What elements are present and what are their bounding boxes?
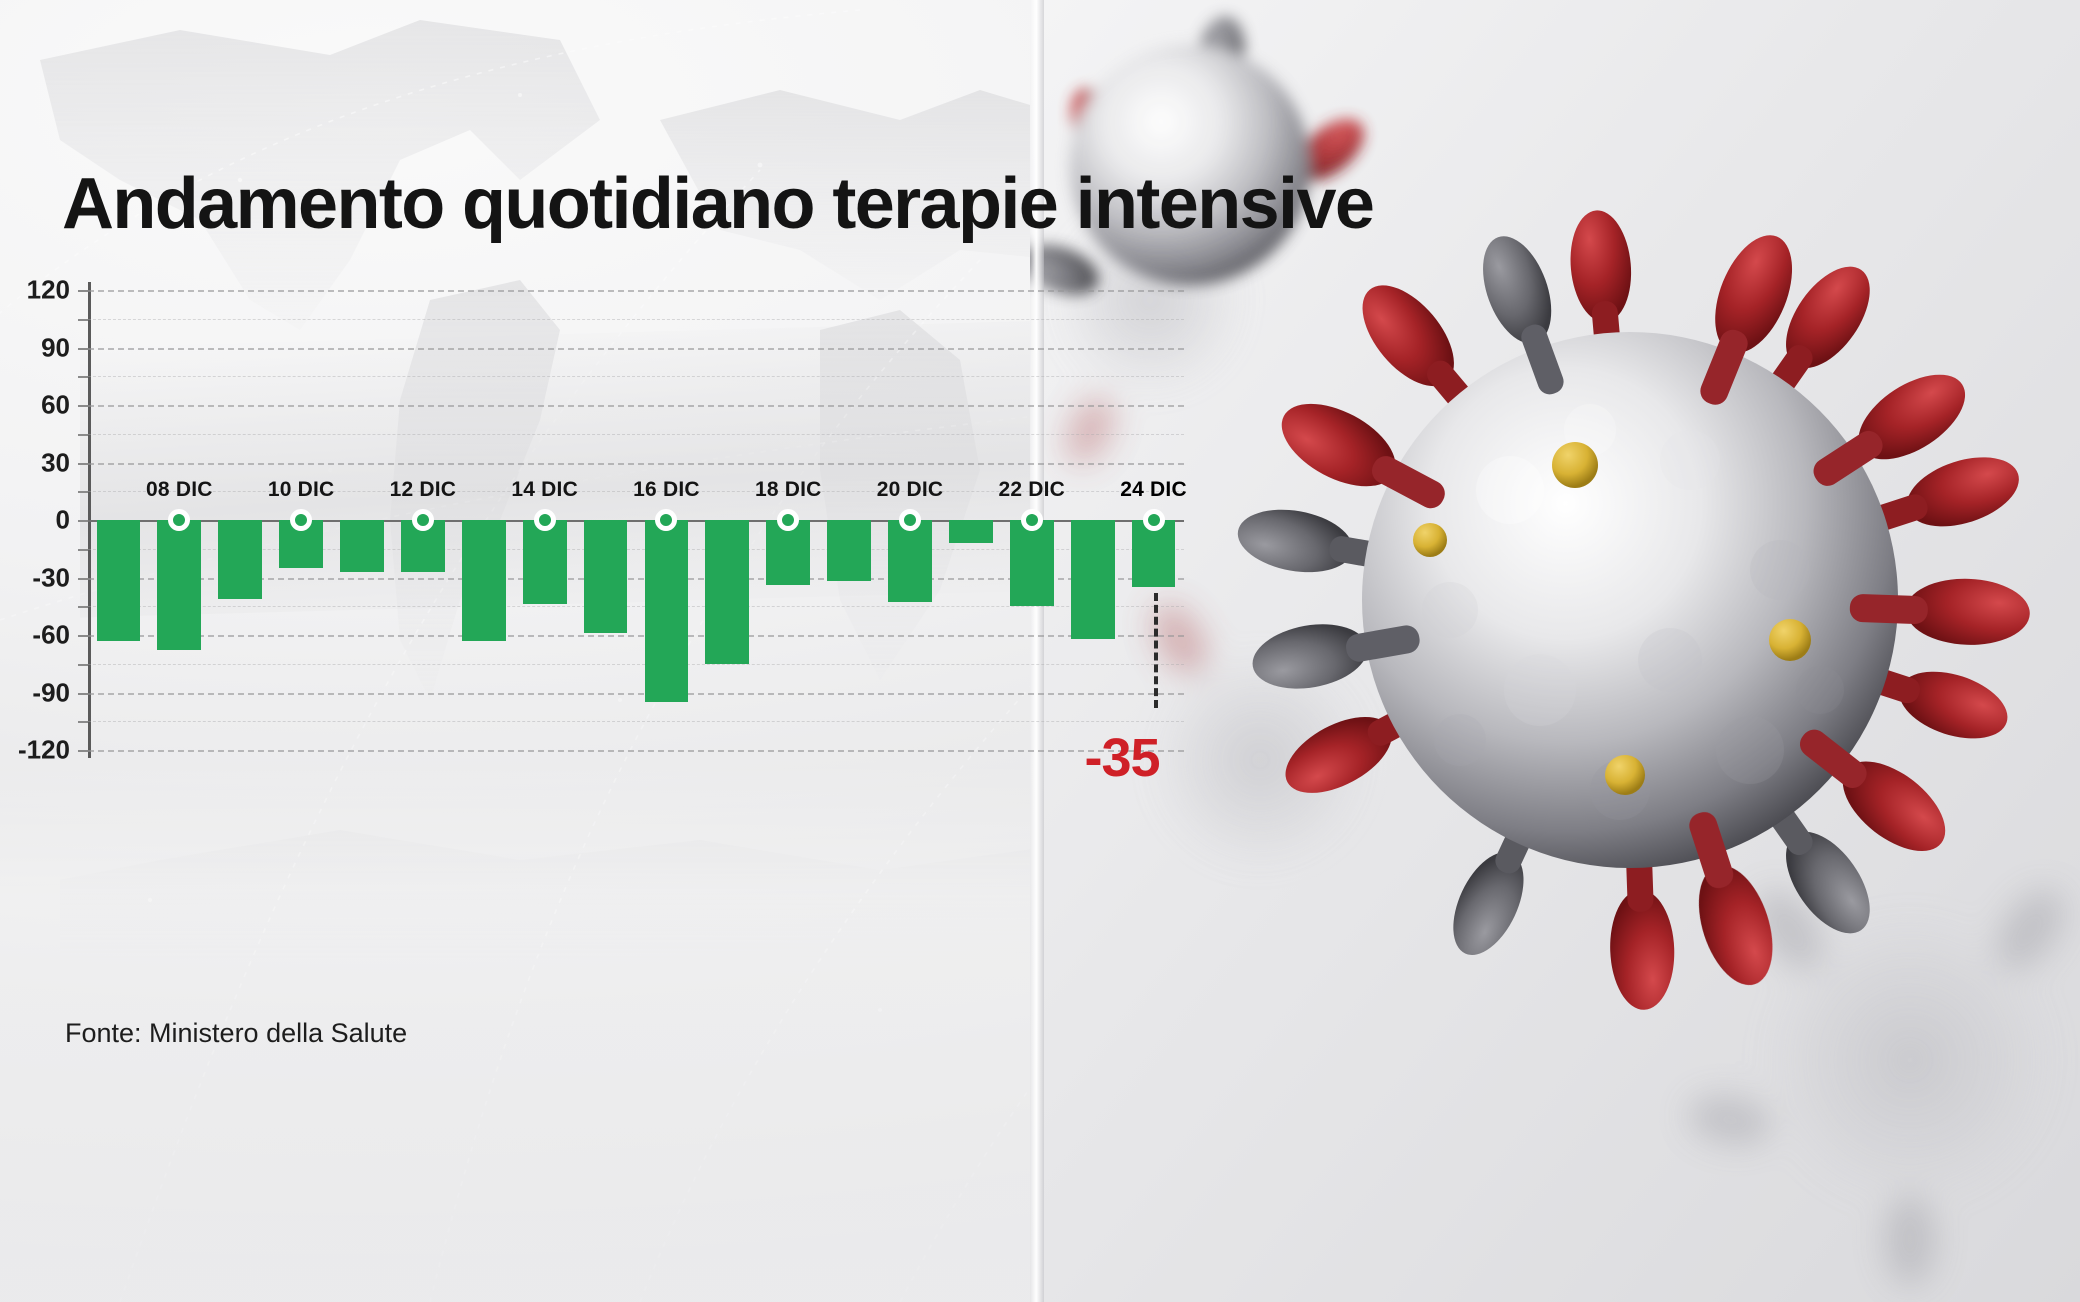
x-axis-marker-dot [899,509,921,531]
y-axis-tick [78,693,88,695]
x-axis-label: 16 DIC [633,478,700,502]
x-axis-marker-dot [1143,509,1165,531]
y-axis-label: -90 [32,677,70,708]
bar [523,520,567,604]
source-note: Fonte: Ministero della Salute [65,1018,407,1049]
x-axis-label: 12 DIC [390,478,457,502]
bar [1071,520,1115,639]
y-axis-label: 120 [27,275,70,306]
y-axis-tick [78,520,88,522]
x-axis-marker-dot [1021,509,1043,531]
x-axis-marker-dot [168,509,190,531]
bar-series [88,290,1184,750]
y-axis-tick [78,635,88,637]
y-axis-tick [78,721,88,723]
page-title: Andamento quotidiano terapie intensive [62,163,1373,245]
y-axis-tick [78,434,88,436]
y-axis-label: 90 [41,332,70,363]
x-axis-marker-dot [777,509,799,531]
y-axis-label: 30 [41,447,70,478]
y-axis-label: -120 [18,735,70,766]
bar [584,520,628,633]
y-axis-tick [78,376,88,378]
y-axis-label: 60 [41,390,70,421]
chart-plot-area: 1209060300-30-60-90-120 08 DIC10 DIC12 D… [88,290,1184,750]
x-axis-label: 18 DIC [755,478,822,502]
y-axis-label: 0 [56,505,70,536]
x-axis-label: 24 DIC [1120,478,1187,502]
y-axis-tick [78,578,88,580]
y-axis-tick [78,319,88,321]
y-axis-tick [78,549,88,551]
x-axis-label: 08 DIC [146,478,213,502]
callout-value-label: -35 [1085,727,1160,789]
bar [218,520,262,599]
y-axis-tick [78,750,88,752]
y-axis-label: -30 [32,562,70,593]
bar-chart: 1209060300-30-60-90-120 08 DIC10 DIC12 D… [88,290,1184,750]
bar [888,520,932,602]
bar [1010,520,1054,606]
bar [827,520,871,581]
callout-leader-line [1154,593,1158,708]
bar [340,520,384,572]
x-axis-label: 22 DIC [998,478,1065,502]
y-axis-tick [78,606,88,608]
x-axis-marker-dot [290,509,312,531]
y-axis-tick [78,348,88,350]
bar [705,520,749,664]
y-axis-tick [78,405,88,407]
y-axis-tick [78,463,88,465]
x-axis-label: 20 DIC [877,478,944,502]
bar [949,520,993,543]
y-axis-tick [78,664,88,666]
x-axis-label: 14 DIC [511,478,578,502]
bar [157,520,201,650]
x-axis-marker-dot [412,509,434,531]
x-axis-label: 10 DIC [268,478,335,502]
gridline-major [88,750,1184,752]
y-axis-label: -60 [32,620,70,651]
y-axis-tick [78,290,88,292]
x-axis-marker-dot [655,509,677,531]
x-axis-marker-dot [534,509,556,531]
bar [462,520,506,641]
bar [645,520,689,702]
bar [97,520,141,641]
y-axis-tick [78,491,88,493]
